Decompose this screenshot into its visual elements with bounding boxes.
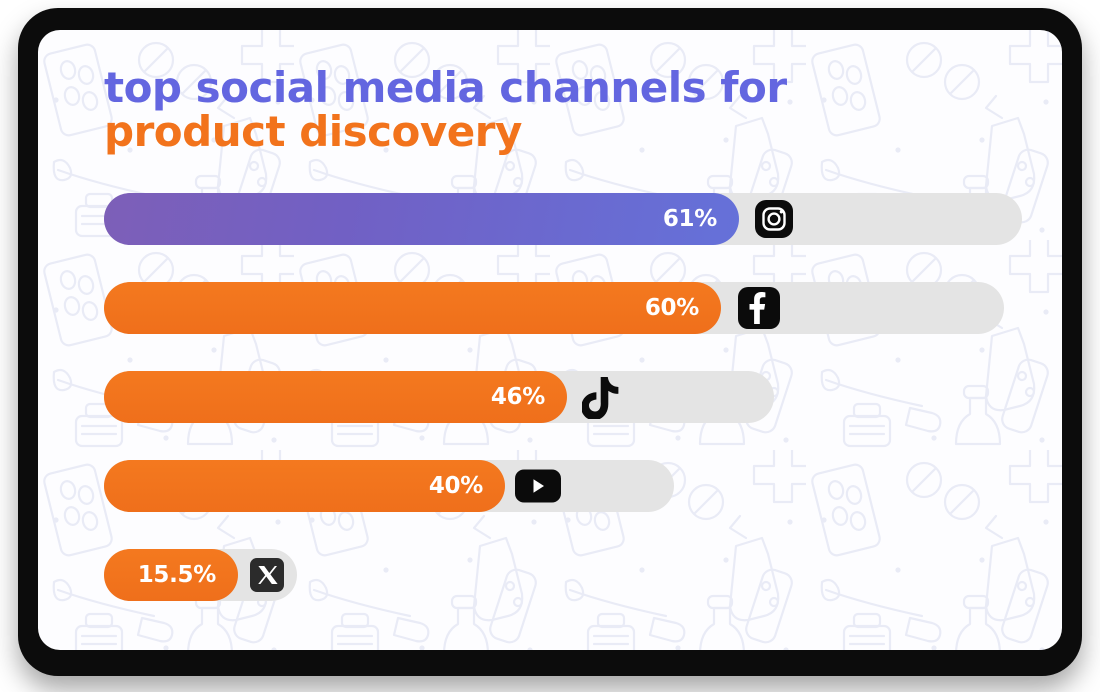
bar-fill-facebook[interactable]: 60% <box>104 282 721 334</box>
horizontal-bar-chart: 61% 60% <box>104 193 1022 630</box>
bar-fill-tiktok[interactable]: 46% <box>104 371 567 423</box>
tiktok-icon <box>582 375 622 419</box>
bar-value-youtube: 40% <box>429 473 483 499</box>
infographic-card: top social media channels for product di… <box>38 30 1062 650</box>
bar-row-youtube: 40% <box>104 460 1022 512</box>
title-line-2: product discovery <box>104 110 787 154</box>
bar-value-x: 15.5% <box>138 562 216 588</box>
title-line-1: top social media channels for <box>104 66 787 110</box>
bar-row-instagram: 61% <box>104 193 1022 245</box>
bar-row-tiktok: 46% <box>104 371 1022 423</box>
bar-fill-youtube[interactable]: 40% <box>104 460 505 512</box>
page-title: top social media channels for product di… <box>104 66 787 153</box>
bar-value-instagram: 61% <box>663 206 717 232</box>
bar-value-facebook: 60% <box>645 295 699 321</box>
bar-value-tiktok: 46% <box>491 384 545 410</box>
device-frame: top social media channels for product di… <box>18 8 1082 676</box>
bar-fill-x[interactable]: 15.5% <box>104 549 238 601</box>
x-twitter-icon <box>250 558 284 592</box>
instagram-icon <box>755 200 793 238</box>
bar-row-x: 15.5% <box>104 549 1022 601</box>
bar-fill-instagram[interactable]: 61% <box>104 193 739 245</box>
bar-row-facebook: 60% <box>104 282 1022 334</box>
facebook-icon <box>738 287 780 329</box>
youtube-icon <box>515 470 561 503</box>
